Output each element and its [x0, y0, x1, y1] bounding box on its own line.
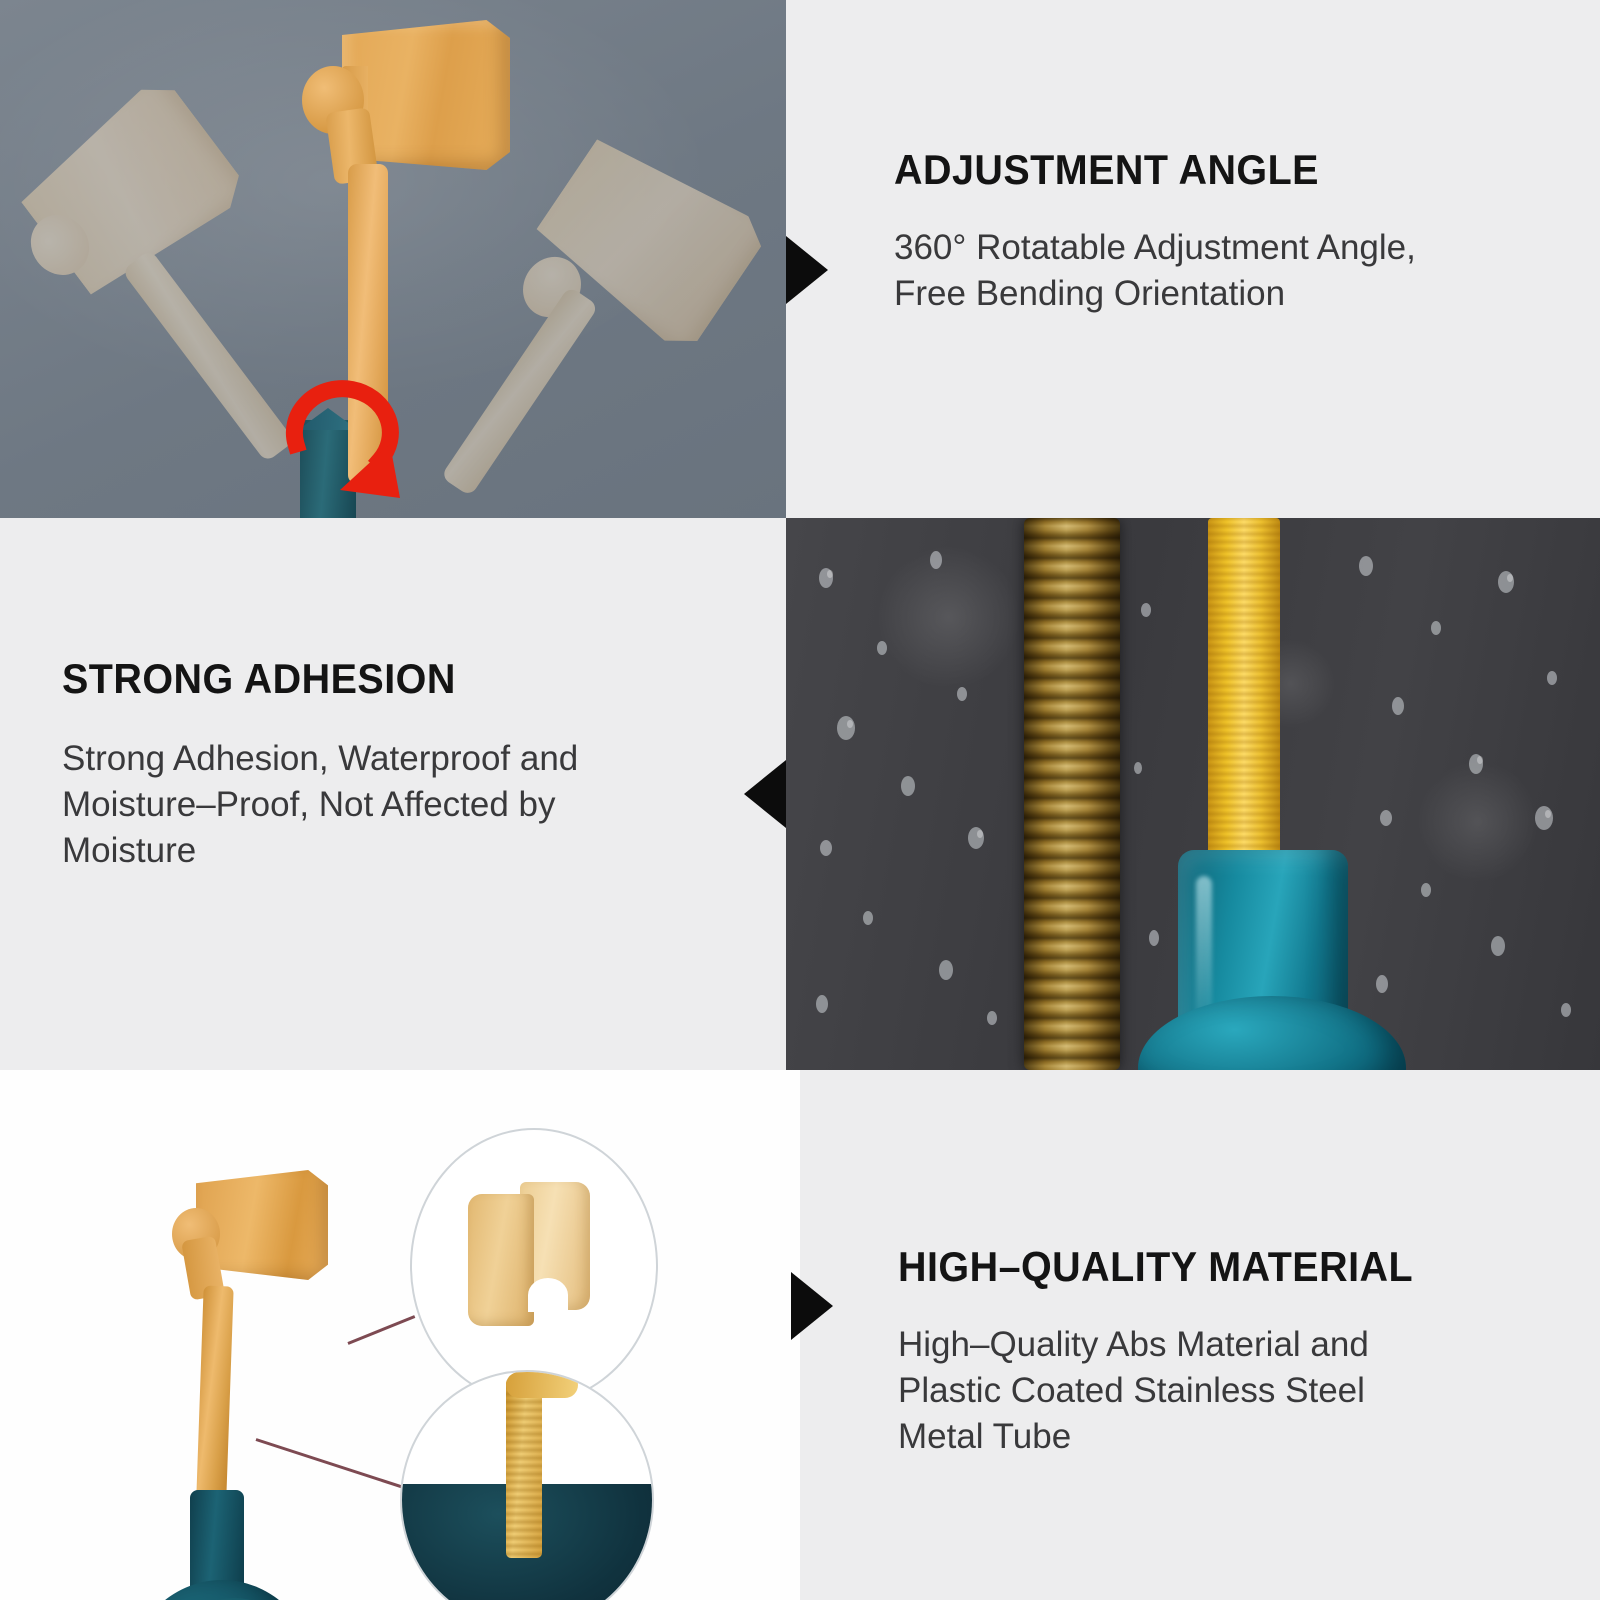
- text-panel-strong-adhesion: STRONG ADHESION Strong Adhesion, Waterpr…: [0, 518, 786, 1070]
- yellow-ribbed-tube: [1208, 518, 1280, 874]
- clip-notch: [528, 1278, 568, 1312]
- feature-text-block: HIGH–QUALITY MATERIAL High–Quality Abs M…: [898, 1245, 1446, 1461]
- product-feature-infographic: ADJUSTMENT ANGLE 360° Rotatable Adjustme…: [0, 0, 1600, 1600]
- description-line: High–Quality Abs Material and: [898, 1322, 1446, 1368]
- triangle-right-icon: [791, 1272, 833, 1340]
- feature-description: 360° Rotatable Adjustment Angle, Free Be…: [894, 225, 1416, 317]
- clip-left-wall: [468, 1194, 534, 1326]
- feature-heading: ADJUSTMENT ANGLE: [894, 148, 1385, 192]
- photo-strong-adhesion: [786, 518, 1600, 1070]
- open-close-label: OPEN CLOSE: [208, 1590, 328, 1600]
- description-line: Plastic Coated Stainless Steel: [898, 1368, 1446, 1414]
- rotation-arrow-icon: [268, 348, 418, 518]
- callout-bracket-clip: [410, 1128, 658, 1404]
- photo-high-quality-material: OPEN CLOSE: [0, 1070, 800, 1600]
- feature-description: High–Quality Abs Material and Plastic Co…: [898, 1322, 1446, 1461]
- tube-top-bend: [506, 1372, 578, 1398]
- description-line: Free Bending Orientation: [894, 271, 1416, 317]
- triangle-left-icon: [744, 760, 786, 828]
- description-line: Moisture: [62, 828, 578, 874]
- description-line: 360° Rotatable Adjustment Angle,: [894, 225, 1416, 271]
- triangle-right-icon: [786, 236, 828, 304]
- feature-heading: STRONG ADHESION: [62, 657, 547, 701]
- ribbed-tube-detail: [506, 1378, 542, 1558]
- photo-adjustment-angle: [0, 0, 786, 518]
- feature-description: Strong Adhesion, Waterproof and Moisture…: [62, 736, 578, 875]
- photo-background: [0, 1070, 800, 1600]
- text-panel-high-quality-material: HIGH–QUALITY MATERIAL High–Quality Abs M…: [800, 1070, 1600, 1600]
- feature-text-block: STRONG ADHESION Strong Adhesion, Waterpr…: [62, 657, 578, 875]
- text-panel-adjustment-angle: ADJUSTMENT ANGLE 360° Rotatable Adjustme…: [786, 0, 1600, 518]
- brass-shower-hose: [1024, 518, 1120, 1070]
- feature-text-block: ADJUSTMENT ANGLE 360° Rotatable Adjustme…: [894, 148, 1416, 317]
- description-line: Moisture–Proof, Not Affected by: [62, 782, 578, 828]
- description-line: Metal Tube: [898, 1414, 1446, 1460]
- bracket-clip-detail: [468, 1182, 596, 1332]
- feature-heading: HIGH–QUALITY MATERIAL: [898, 1245, 1413, 1289]
- description-line: Strong Adhesion, Waterproof and: [62, 736, 578, 782]
